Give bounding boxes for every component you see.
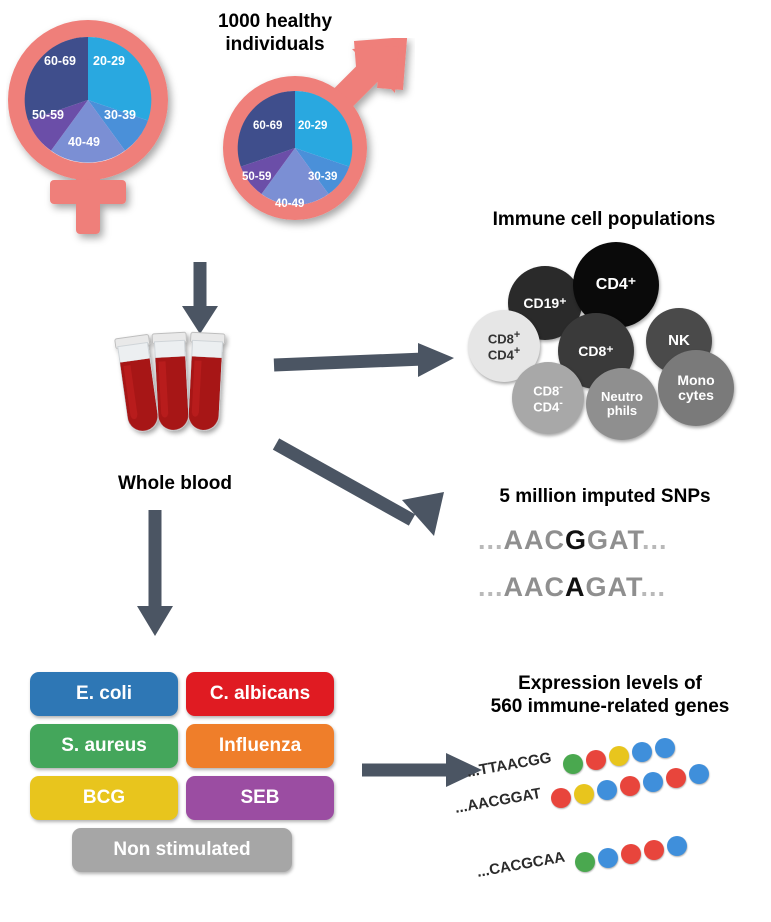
arrow-to-stimuli (130, 510, 180, 640)
rna-strand-2-label: ...AACGGAT (454, 785, 543, 817)
arrow-to-blood (175, 262, 225, 337)
rna-strand-3-label: ...CACGCAA (476, 849, 567, 881)
male-age-60-69: 60-69 (253, 120, 282, 132)
cell-cd19-label: CD19⁺ (523, 296, 566, 311)
stimulus-influenza-label: Influenza (219, 735, 301, 757)
cell-cd8-label: CD8⁺ (578, 344, 613, 359)
snp1-suffix-dots: ... (642, 525, 668, 555)
rna-bead-2-6 (666, 768, 686, 788)
rna-bead-1-1 (563, 754, 583, 774)
male-age-30-39: 30-39 (308, 171, 337, 183)
rna-bead-2-5 (643, 772, 663, 792)
rna-bead-3-4 (644, 840, 664, 860)
stimulus-e-coli-label: E. coli (76, 683, 132, 705)
stimulus-influenza[interactable]: Influenza (186, 724, 334, 768)
snp2-suffix-dots: ... (641, 572, 667, 602)
female-age-20-29: 20-29 (93, 54, 125, 68)
female-age-30-39: 30-39 (104, 108, 136, 122)
male-symbol-svg (205, 38, 415, 258)
stimulus-c-albicans[interactable]: C. albicans (186, 672, 334, 716)
stimulus-e-coli[interactable]: E. coli (30, 672, 178, 716)
snp2-variant: A (565, 572, 586, 602)
female-age-60-69: 60-69 (44, 54, 76, 68)
male-age-20-29: 20-29 (298, 120, 327, 132)
rna-strands: ...TTAACGG ...AACGGAT ...CACGCAA (455, 740, 765, 910)
stimulus-seb[interactable]: SEB (186, 776, 334, 820)
cell-cd8p-cd4p-label: CD8+CD4+ (488, 330, 520, 362)
male-age-50-59: 50-59 (242, 171, 271, 183)
immune-cell-cluster: CD19⁺ CD4⁺ CD8+CD4+ CD8⁺ NK CD8-CD4- Neu… (460, 240, 760, 420)
stimulus-bcg-label: BCG (83, 787, 125, 809)
stimulus-seb-label: SEB (240, 787, 279, 809)
rna-bead-1-5 (655, 738, 675, 758)
arrow-to-cells (272, 325, 462, 385)
female-symbol-svg (6, 8, 206, 248)
immune-title: Immune cell populations (444, 208, 764, 231)
rna-bead-1-3 (609, 746, 629, 766)
cohort-title-line1: 1000 healthy (218, 11, 332, 32)
cell-neutrophils-label: Neutrophils (601, 390, 643, 417)
male-symbol: 60-69 20-29 50-59 30-39 40-49 (205, 38, 415, 258)
snp1-prefix-dots: ... (478, 525, 504, 555)
female-age-50-59: 50-59 (32, 108, 64, 122)
snp-sequence-1: ...AACGGAT... (478, 525, 668, 556)
cell-cd8n-cd4n-label: CD8-CD4- (533, 382, 563, 414)
whole-blood-label: Whole blood (75, 472, 275, 495)
arrow-to-snps (272, 438, 462, 558)
snp1-suffix: GAT (587, 525, 642, 555)
rna-bead-2-4 (620, 776, 640, 796)
snp-sequence-2: ...AACAGAT... (478, 572, 666, 603)
rna-bead-2-2 (574, 784, 594, 804)
rna-bead-3-2 (598, 848, 618, 868)
cell-monocytes-label: Monocytes (677, 373, 714, 402)
expression-title-line1: Expression levels of (518, 673, 702, 694)
female-age-40-49: 40-49 (68, 135, 100, 149)
stimulus-non-stimulated-label: Non stimulated (113, 839, 250, 861)
rna-bead-1-4 (632, 742, 652, 762)
expression-title-line2: 560 immune-related genes (491, 696, 730, 717)
rna-bead-3-3 (621, 844, 641, 864)
snp2-prefix: AAC (504, 572, 566, 602)
rna-bead-1-2 (586, 750, 606, 770)
stimuli-grid: E. coli C. albicans S. aureus Influenza … (30, 672, 340, 892)
snp2-suffix: GAT (586, 572, 641, 602)
cell-monocytes: Monocytes (658, 350, 734, 426)
rna-bead-2-3 (597, 780, 617, 800)
cell-nk-label: NK (668, 333, 690, 349)
snp2-prefix-dots: ... (478, 572, 504, 602)
stimulus-c-albicans-label: C. albicans (210, 683, 310, 705)
rna-bead-3-1 (575, 852, 595, 872)
expression-title: Expression levels of 560 immune-related … (455, 672, 765, 718)
stimulus-non-stimulated[interactable]: Non stimulated (72, 828, 292, 872)
snp1-variant: G (565, 525, 587, 555)
male-age-40-49: 40-49 (275, 198, 304, 210)
female-symbol: 60-69 20-29 50-59 30-39 40-49 (6, 8, 206, 248)
rna-bead-2-7 (689, 764, 709, 784)
blood-tubes (100, 330, 250, 460)
snp1-prefix: AAC (504, 525, 566, 555)
stimulus-s-aureus[interactable]: S. aureus (30, 724, 178, 768)
cell-cd4-label: CD4⁺ (596, 277, 636, 294)
rna-bead-2-1 (551, 788, 571, 808)
rna-bead-3-5 (667, 836, 687, 856)
snps-title: 5 million imputed SNPs (450, 485, 760, 508)
stimulus-s-aureus-label: S. aureus (61, 735, 147, 757)
stimulus-bcg[interactable]: BCG (30, 776, 178, 820)
cell-cd8n-cd4n: CD8-CD4- (512, 362, 584, 434)
rna-strand-1-label: ...TTAACGG (466, 749, 553, 781)
cell-neutrophils: Neutrophils (586, 368, 658, 440)
